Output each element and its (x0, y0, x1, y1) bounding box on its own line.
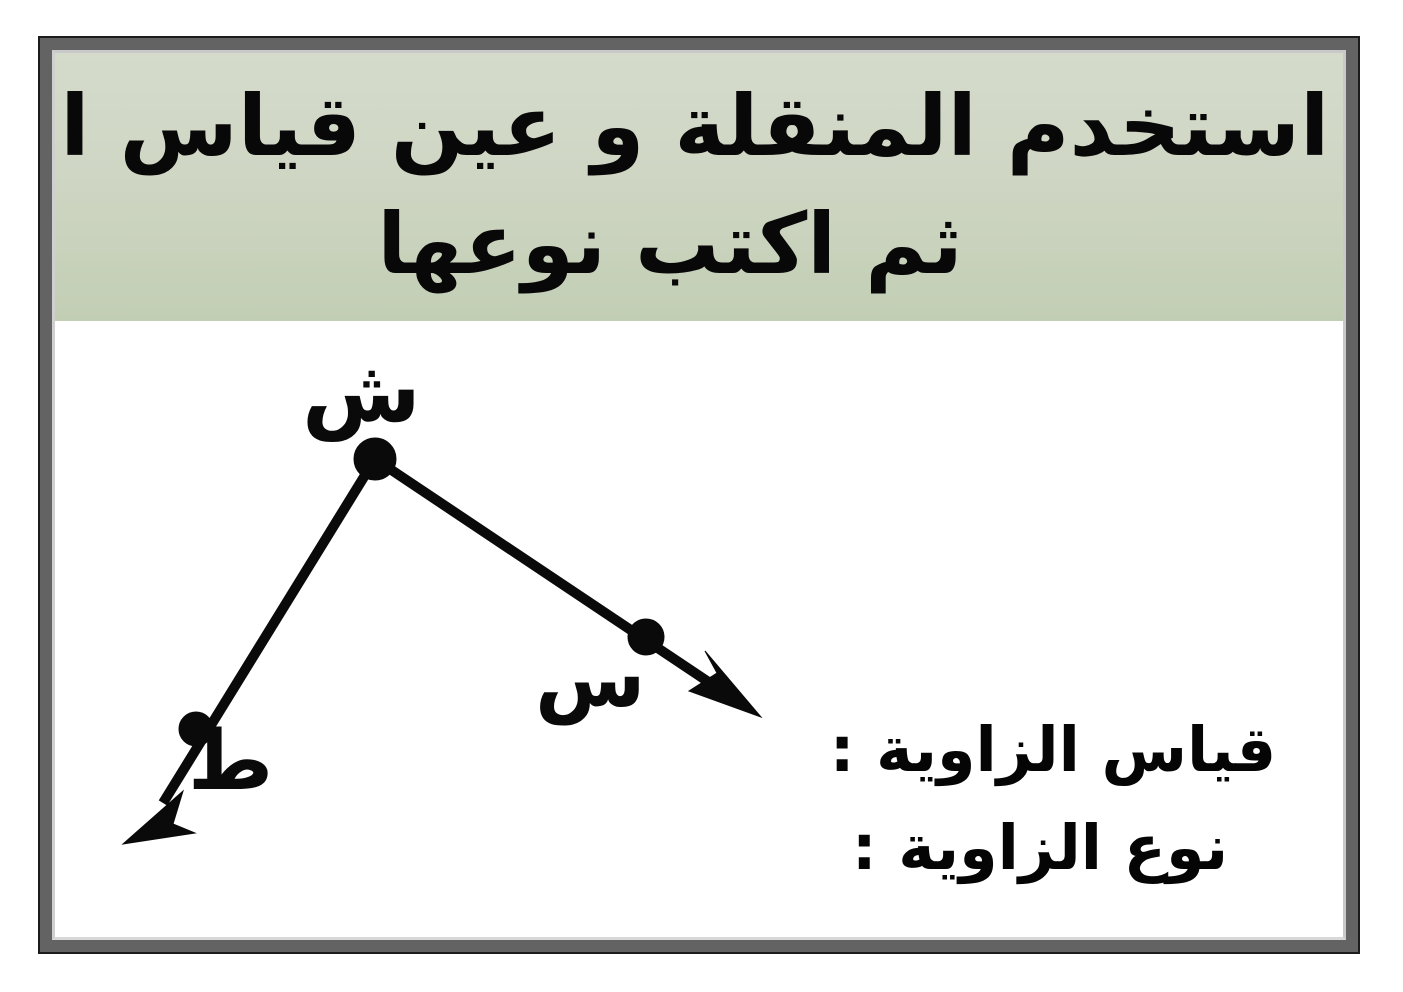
instruction-banner: استخدم المنقلة و عين قياس الزاوية ثم اكت… (55, 53, 1343, 321)
instruction-line-1: استخدم المنقلة و عين قياس الزاوية (69, 67, 1330, 185)
point-label-seen: س (535, 639, 645, 719)
point-label-taa: ط (188, 721, 273, 803)
arrowhead-taa (123, 791, 195, 844)
arrowhead-seen (689, 651, 761, 717)
instruction-line-2: ثم اكتب نوعها (81, 185, 1317, 303)
worksheet-card-inner: استخدم المنقلة و عين قياس الزاوية ثم اكت… (52, 50, 1346, 940)
work-area: ش ط س قياس الزاوية : نوع الزاوية : (55, 321, 1343, 937)
vertex-label-sheen: ش (302, 349, 421, 435)
angle-diagram: ش ط س (65, 321, 825, 921)
answer-prompts: قياس الزاوية : نوع الزاوية : (783, 701, 1323, 897)
vertex-point-sheen (354, 438, 396, 480)
angle-type-prompt[interactable]: نوع الزاوية : (783, 799, 1323, 897)
angle-diagram-svg (65, 321, 825, 921)
worksheet-card: استخدم المنقلة و عين قياس الزاوية ثم اكت… (38, 36, 1360, 954)
angle-measure-prompt[interactable]: قياس الزاوية : (783, 701, 1323, 799)
